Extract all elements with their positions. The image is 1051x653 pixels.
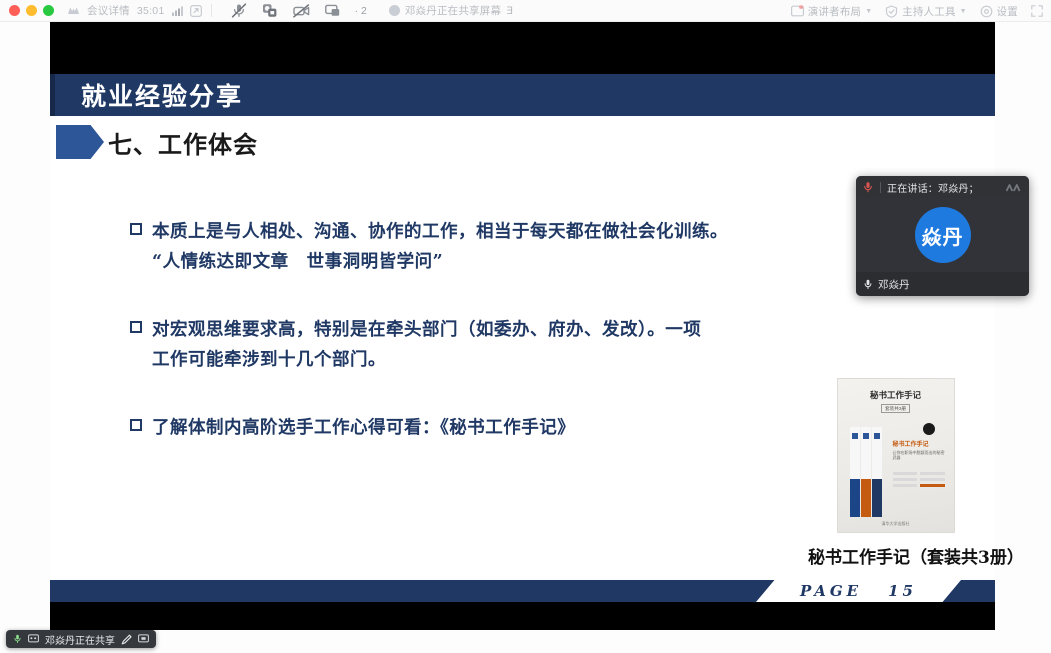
bullet-item: 本质上是与人相处、沟通、协作的工作，相当于每天都在做社会化训练。 “人情练达即文… (130, 217, 850, 277)
book-cover-details: 秘书工作手记 让你在职场中脱颖而出的秘密武器 (893, 423, 945, 490)
book-spine (872, 427, 882, 517)
bullet-text: 本质上是与人相处、沟通、协作的工作，相当于每天都在做社会化训练。 (152, 217, 728, 247)
meeting-detail-label[interactable]: 会议详情 (87, 3, 130, 18)
audio-wave-icon (1006, 183, 1023, 192)
book-cover-highlight-sub: 让你在职场中脱颖而出的秘密武器 (893, 450, 945, 460)
book-spine (850, 427, 860, 517)
speaker-panel-header[interactable]: 正在讲话：邓焱丹； (856, 176, 1029, 198)
speaking-label: 正在讲话：邓焱丹； (887, 180, 979, 195)
share-status-suffix: ∃ (506, 5, 513, 17)
book-publisher: 清华大学出版社 (838, 521, 954, 527)
settings-button[interactable]: 设置 (980, 4, 1018, 19)
chevron-down-icon: ▼ (865, 8, 872, 15)
title-band-accent (50, 74, 55, 116)
slide-title: 就业经验分享 (81, 77, 243, 113)
speaking-mic-icon (862, 181, 874, 193)
participants-count: · 2 (355, 5, 367, 17)
gear-icon (980, 5, 993, 18)
book-cover-highlight: 秘书工作手记 (893, 439, 945, 448)
speaker-layout-button[interactable]: 演讲者布局 ▼ (791, 4, 872, 19)
share-status-label: 邓焱丹正在共享 (45, 632, 115, 647)
minimize-window-button[interactable] (26, 5, 37, 16)
page-label: PAGE (800, 582, 862, 600)
book-cover-dot (923, 423, 935, 435)
close-window-button[interactable] (9, 5, 20, 16)
book-cover-badge-wrap: 套装共3册 (838, 404, 954, 413)
book-spine (861, 427, 871, 517)
presentation-slide: 就业经验分享 七、工作体会 本质上是与人相处、沟通、协作的工作，相当于每天都在做… (50, 22, 995, 630)
chevron-down-icon: ▼ (960, 8, 967, 15)
meeting-timer: 35:01 (137, 5, 165, 17)
speaker-layout-label: 演讲者布局 (808, 4, 862, 19)
page-number: 15 (888, 582, 917, 600)
bullet-square-icon (130, 223, 142, 235)
stop-share-icon[interactable] (138, 634, 149, 644)
mic-on-icon[interactable] (13, 634, 22, 644)
shield-check-icon (885, 5, 898, 18)
book-cover-table (893, 472, 945, 487)
zoom-meeting-window: 会议详情 35:01 (0, 0, 1051, 653)
share-status-text: 邓焱丹正在共享屏幕 (405, 3, 501, 18)
top-toolbar: 会议详情 35:01 (0, 0, 1051, 22)
header-divider (880, 182, 881, 193)
screen-share-icon[interactable] (28, 634, 39, 644)
bullet-text: 了解体制内高阶选手工作心得可看：《秘书工作手记》 (152, 413, 575, 443)
slide-bullet-list: 本质上是与人相处、沟通、协作的工作，相当于每天都在做社会化训练。 “人情练达即文… (130, 217, 850, 481)
bullet-item: 对宏观思维要求高，特别是在牵头部门（如委办、府办、发改）。一项 工作可能牵涉到十… (130, 315, 850, 375)
bullet-text-continued: “人情练达即文章 世事洞明皆学问” (152, 247, 850, 277)
mic-on-icon[interactable] (863, 279, 873, 290)
book-cover-title: 秘书工作手记 (838, 389, 954, 401)
signal-bars-icon[interactable] (172, 6, 183, 16)
shield-meeting-icon (67, 5, 80, 16)
settings-label: 设置 (997, 4, 1018, 19)
book-caption: 秘书工作手记（套装共3册） (808, 543, 983, 568)
speaker-name: 邓焱丹 (878, 277, 910, 292)
layout-grid-icon (791, 5, 804, 17)
share-status-group: 邓焱丹正在共享屏幕 ∃ (389, 3, 513, 18)
sharer-avatar (389, 5, 400, 16)
slide-bottom-black-bar (50, 602, 995, 630)
meeting-info-group[interactable]: 会议详情 35:01 (67, 3, 202, 18)
slide-title-band: 就业经验分享 (50, 74, 995, 116)
speaker-panel-footer: 邓焱丹 (856, 272, 1029, 296)
camera-off-icon[interactable] (293, 4, 310, 18)
bullet-square-icon (130, 321, 142, 333)
active-speaker-panel[interactable]: 正在讲话：邓焱丹； 焱丹 邓焱丹 (856, 176, 1029, 296)
audio-share-icon[interactable] (262, 3, 278, 18)
host-tools-label: 主持人工具 (902, 4, 956, 19)
slide-subtitle-row: 七、工作体会 (50, 122, 995, 162)
bullet-square-icon (130, 419, 142, 431)
top-right-controls: 演讲者布局 ▼ 主持人工具 ▼ (791, 0, 1043, 22)
toolbar-divider (211, 4, 212, 17)
pen-annotate-icon[interactable] (121, 634, 132, 645)
zoom-window-button[interactable] (43, 5, 54, 16)
slide-page-indicator: PAGE 15 (756, 580, 961, 602)
arrow-marker-icon (56, 125, 104, 159)
mic-muted-icon[interactable] (231, 3, 247, 18)
bullet-text-continued: 工作可能牵涉到十几个部门。 (152, 345, 850, 375)
speaker-panel-body: 焱丹 (856, 198, 1029, 272)
fullscreen-icon[interactable] (1031, 5, 1043, 17)
avatar: 焱丹 (915, 207, 971, 263)
participants-icon[interactable] (325, 4, 340, 17)
book-figure: 秘书工作手记 套装共3册 秘书工作手记 让你在职场中脱颖而出的秘密武器 (808, 378, 983, 568)
book-cover-badge: 套装共3册 (881, 404, 910, 413)
slide-subtitle: 七、工作体会 (108, 125, 258, 160)
bullet-text: 对宏观思维要求高，特别是在牵头部门（如委办、府办、发改）。一项 (152, 315, 701, 345)
slide-top-black-bar (50, 22, 995, 74)
host-tools-button[interactable]: 主持人工具 ▼ (885, 4, 966, 19)
popout-window-icon[interactable] (190, 5, 202, 17)
bullet-item: 了解体制内高阶选手工作心得可看：《秘书工作手记》 (130, 413, 850, 443)
book-cover-image: 秘书工作手记 套装共3册 秘书工作手记 让你在职场中脱颖而出的秘密武器 (837, 378, 955, 533)
shared-screen-stage: 就业经验分享 七、工作体会 本质上是与人相处、沟通、协作的工作，相当于每天都在做… (50, 22, 995, 630)
share-control-toolbar[interactable]: 邓焱丹正在共享 (6, 630, 156, 648)
book-spines (850, 427, 882, 517)
media-controls-group: · 2 (231, 3, 367, 18)
window-traffic-lights[interactable] (0, 5, 54, 16)
